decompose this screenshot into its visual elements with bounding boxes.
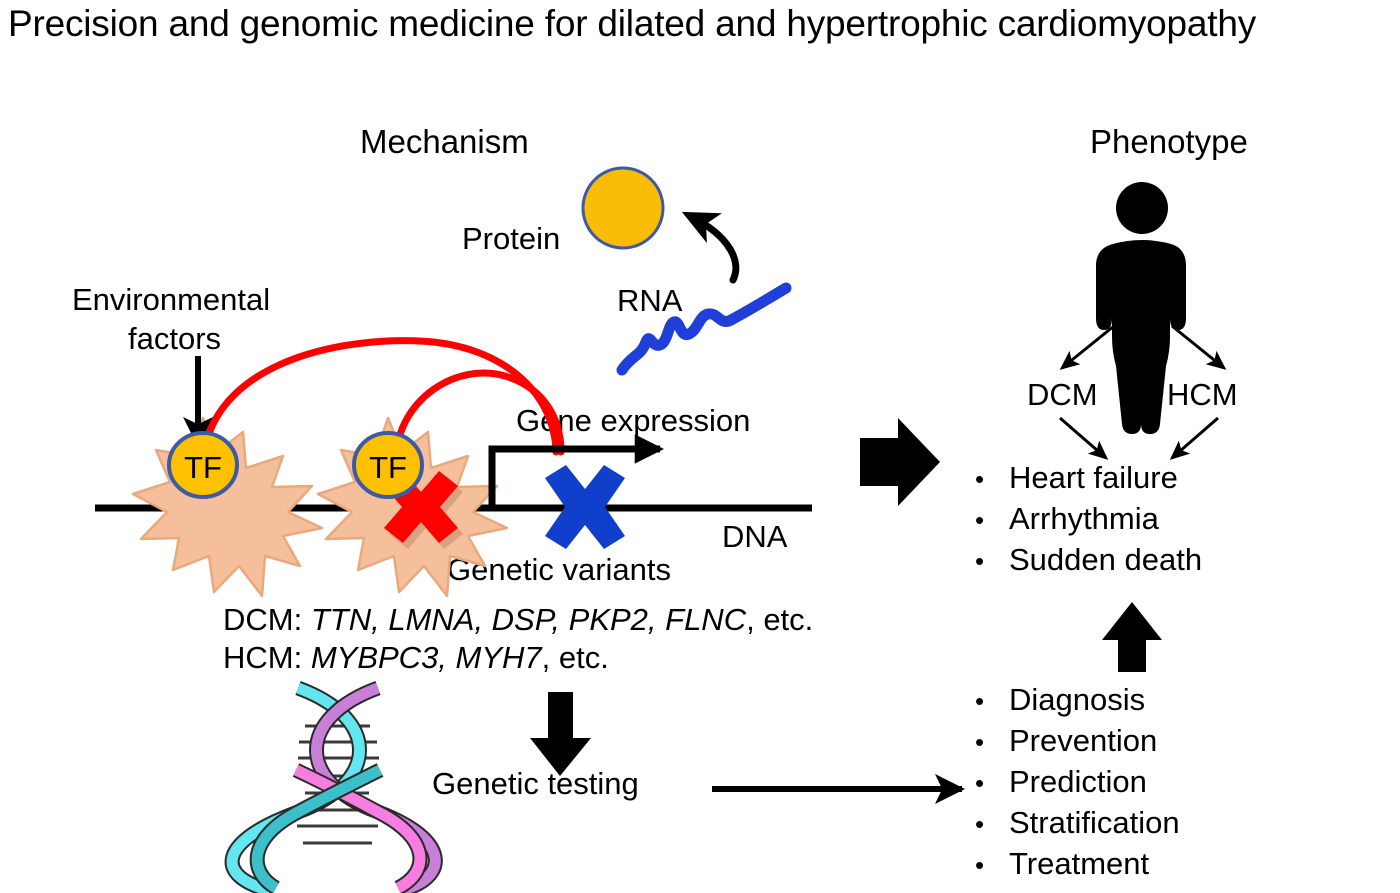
translation-arrow (690, 216, 736, 280)
person-to-hcm-arrow (1172, 326, 1224, 368)
hcm-to-outcomes-arrow (1172, 418, 1218, 458)
figure-canvas: Precision and genomic medicine for dilat… (0, 0, 1400, 893)
diagram-artwork: TF TF (0, 0, 1400, 893)
tf-label-1: TF (184, 450, 222, 485)
tf-label-2: TF (369, 450, 407, 485)
dcm-to-outcomes-arrow (1060, 418, 1106, 458)
mechanism-to-phenotype-arrow (860, 418, 940, 506)
person-icon (1096, 182, 1186, 434)
protein-circle (583, 168, 663, 248)
rna-strand (622, 288, 786, 370)
person-to-dcm-arrow (1062, 326, 1114, 368)
genetic-testing-down-arrow (530, 692, 591, 776)
dna-helix-illustration (232, 688, 435, 890)
applications-to-outcomes-arrow (1102, 602, 1162, 672)
